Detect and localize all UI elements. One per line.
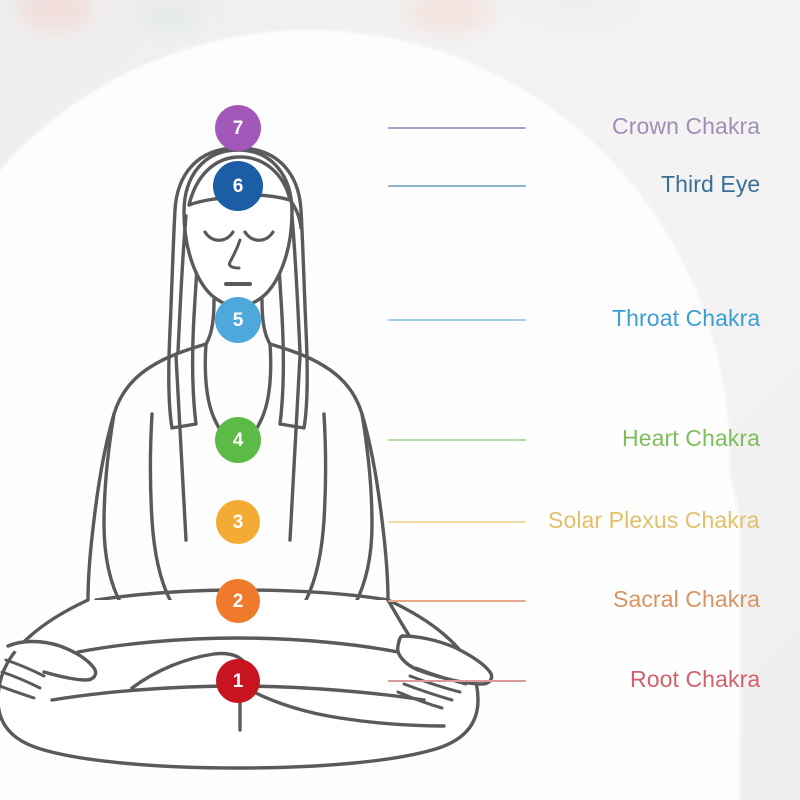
chakra-disc-5: 5 [215,297,261,343]
chakra-label-crown-chakra: Crown Chakra [612,113,760,140]
connector-line-solar-plexus-chakra [388,521,526,523]
chakra-label-sacral-chakra: Sacral Chakra [613,586,760,613]
labels-layer: Crown ChakraThird EyeThroat ChakraHeart … [0,0,800,800]
chakra-label-heart-chakra: Heart Chakra [622,425,760,452]
chakra-diagram-canvas: Crown ChakraThird EyeThroat ChakraHeart … [0,0,800,800]
chakra-label-solar-plexus-chakra: Solar Plexus Chakra [548,507,760,534]
connector-line-root-chakra [388,680,526,682]
chakra-disc-3: 3 [216,500,260,544]
chakra-label-third-eye: Third Eye [661,171,760,198]
connector-line-third-eye [388,185,526,187]
chakra-disc-4: 4 [215,417,261,463]
chakra-label-root-chakra: Root Chakra [630,666,760,693]
chakra-disc-7: 7 [215,105,261,151]
chakra-label-throat-chakra: Throat Chakra [612,305,760,332]
chakra-disc-2: 2 [216,579,260,623]
connector-line-crown-chakra [388,127,526,129]
connector-line-sacral-chakra [388,600,526,602]
chakra-disc-6: 6 [213,161,263,211]
connector-line-throat-chakra [388,319,526,321]
connector-line-heart-chakra [388,439,526,441]
chakra-disc-1: 1 [216,659,260,703]
